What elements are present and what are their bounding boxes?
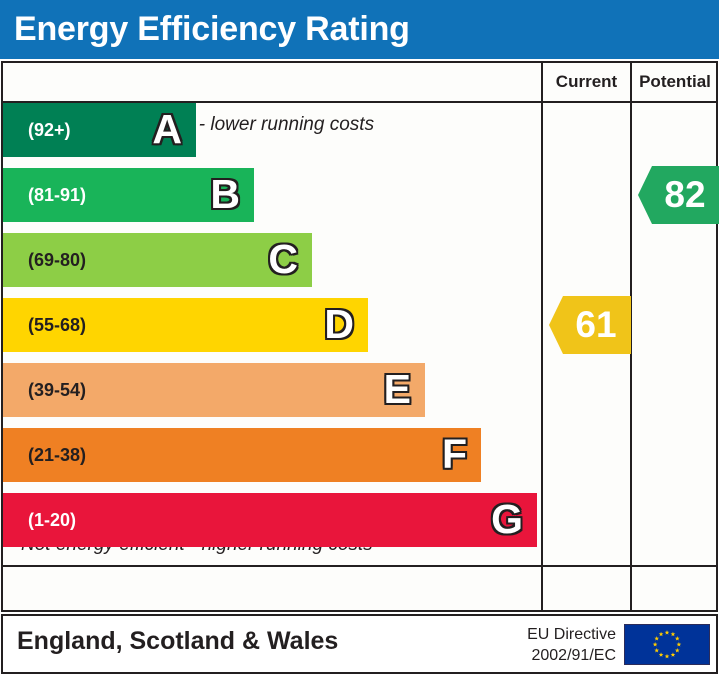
column-header-current: Current [543,63,630,101]
band-letter-b: B [210,168,240,222]
energy-efficiency-rating-chart: Energy Efficiency Rating Current Potenti… [0,0,719,675]
band-range-f: (21-38) [28,428,86,482]
band-bar-e: (39-54)E [3,363,425,417]
band-bar-b: (81-91)B [3,168,254,222]
band-bar-c: (69-80)C [3,233,312,287]
band-letter-a: A [152,103,182,157]
band-bar-g: (1-20)G [3,493,537,547]
rating-marker-potential: 82 [638,166,719,224]
band-range-g: (1-20) [28,493,76,547]
band-letter-f: F [442,428,467,482]
band-bar-a: (92+)A [3,103,196,157]
page-title: Energy Efficiency Rating [14,7,410,51]
band-letter-c: C [268,233,298,287]
band-range-e: (39-54) [28,363,86,417]
eu-directive-line1: EU Directive [527,624,616,645]
band-bars-container: (92+)A(81-91)B(69-80)C(55-68)D(39-54)E(2… [3,103,541,568]
rating-marker-current: 61 [549,296,631,354]
band-range-c: (69-80) [28,233,86,287]
band-range-b: (81-91) [28,168,86,222]
band-letter-g: G [491,493,523,547]
region-label: England, Scotland & Wales [17,627,338,656]
band-range-a: (92+) [28,103,71,157]
band-bar-f: (21-38)F [3,428,481,482]
eu-flag-icon [624,624,710,665]
band-range-d: (55-68) [28,298,86,352]
eu-directive-line2: 2002/91/EC [527,645,616,666]
current-column-divider [541,63,543,610]
chart-header: Energy Efficiency Rating [0,0,719,59]
band-bar-d: (55-68)D [3,298,368,352]
chart-footer: England, Scotland & Wales EU Directive 2… [1,614,718,674]
band-letter-e: E [384,363,411,417]
column-header-potential: Potential [632,63,718,101]
band-letter-d: D [324,298,354,352]
rating-table: Current Potential Very energy efficient … [1,61,718,612]
eu-directive-label: EU Directive 2002/91/EC [527,624,616,666]
